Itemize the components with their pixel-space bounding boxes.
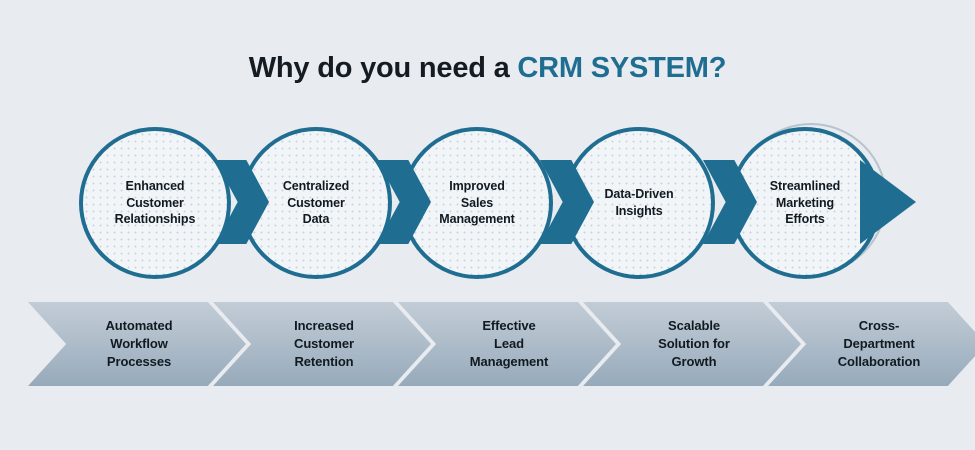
stage-node-1[interactable]: EnhancedCustomerRelationships: [79, 127, 231, 279]
stage-label-1: EnhancedCustomerRelationships: [79, 127, 231, 279]
benefit-banner-row: AutomatedWorkflowProcesses IncreasedCust…: [0, 300, 975, 395]
crm-infographic: Why do you need a CRM SYSTEM? EnhancedCu…: [0, 0, 975, 450]
stage-circle-row: EnhancedCustomerRelationships Centralize…: [0, 0, 975, 300]
benefit-label-1: AutomatedWorkflowProcesses: [28, 302, 246, 386]
arrow-right-tip-icon: [860, 160, 916, 244]
benefit-banner-1[interactable]: AutomatedWorkflowProcesses: [28, 302, 246, 386]
